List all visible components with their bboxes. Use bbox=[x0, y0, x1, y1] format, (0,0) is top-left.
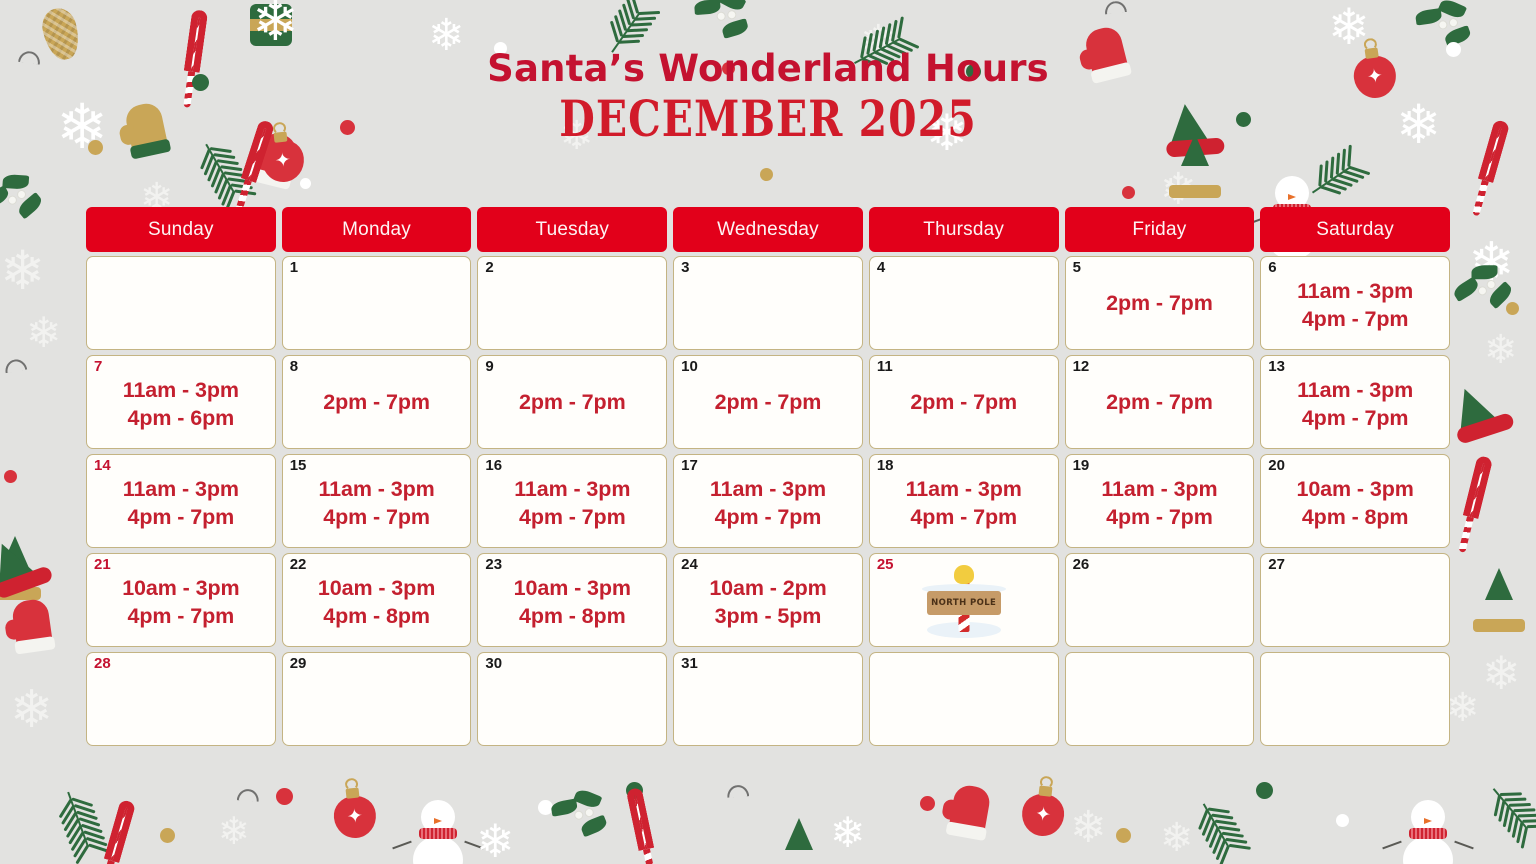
day-number: 12 bbox=[1073, 358, 1090, 376]
hours-block: 11am - 3pm4pm - 7pm bbox=[283, 471, 471, 531]
hours-line: 11am - 3pm bbox=[674, 476, 862, 504]
day-cell-16[interactable]: 1611am - 3pm4pm - 7pm bbox=[477, 454, 667, 548]
day-cell-22[interactable]: 2210am - 3pm4pm - 8pm bbox=[282, 553, 472, 647]
day-cell-6[interactable]: 611am - 3pm4pm - 7pm bbox=[1260, 256, 1450, 350]
hours-line: 11am - 3pm bbox=[283, 476, 471, 504]
hours-block: 2pm - 7pm bbox=[1066, 387, 1254, 417]
hours-block: 11am - 3pm4pm - 7pm bbox=[870, 471, 1058, 531]
calendar-grid: SundayMondayTuesdayWednesdayThursdayFrid… bbox=[86, 207, 1450, 751]
hours-line: 4pm - 7pm bbox=[87, 504, 275, 532]
day-cell-28[interactable]: 28 bbox=[86, 652, 276, 746]
hours-line: 11am - 3pm bbox=[87, 377, 275, 405]
day-cell-27[interactable]: 27 bbox=[1260, 553, 1450, 647]
hours-line: 4pm - 8pm bbox=[1261, 504, 1449, 532]
day-cell-21[interactable]: 2110am - 3pm4pm - 7pm bbox=[86, 553, 276, 647]
weekday-header-sunday: Sunday bbox=[86, 207, 276, 252]
day-number: 4 bbox=[877, 259, 885, 277]
day-number: 31 bbox=[681, 655, 698, 673]
day-number: 3 bbox=[681, 259, 689, 277]
hours-line: 10am - 3pm bbox=[87, 575, 275, 603]
day-cell-11[interactable]: 112pm - 7pm bbox=[869, 355, 1059, 449]
day-number: 29 bbox=[290, 655, 307, 673]
hours-block: 10am - 3pm4pm - 8pm bbox=[283, 570, 471, 630]
north-pole-sign-icon: NORTH POLE bbox=[916, 566, 1012, 640]
weekday-header-monday: Monday bbox=[282, 207, 472, 252]
day-cell-10[interactable]: 102pm - 7pm bbox=[673, 355, 863, 449]
hours-block: 11am - 3pm4pm - 7pm bbox=[1261, 273, 1449, 333]
hours-block: 11am - 3pm4pm - 7pm bbox=[1066, 471, 1254, 531]
hours-line: 10am - 2pm bbox=[674, 575, 862, 603]
day-cell-3[interactable]: 3 bbox=[673, 256, 863, 350]
day-cell-26[interactable]: 26 bbox=[1065, 553, 1255, 647]
title-block: Santa’s Wonderland Hours DECEMBER 2025 bbox=[0, 0, 1536, 138]
week-row: 28293031 bbox=[86, 652, 1450, 746]
hours-line: 4pm - 7pm bbox=[674, 504, 862, 532]
hours-line: 11am - 3pm bbox=[1066, 476, 1254, 504]
day-cell-30[interactable]: 30 bbox=[477, 652, 667, 746]
calendar-page: Santa’s Wonderland Hours DECEMBER 2025 S… bbox=[0, 0, 1536, 864]
day-cell-1[interactable]: 1 bbox=[282, 256, 472, 350]
day-cell-empty bbox=[869, 652, 1059, 746]
hours-line: 11am - 3pm bbox=[1261, 377, 1449, 405]
day-number: 28 bbox=[94, 655, 111, 673]
sign-board: NORTH POLE bbox=[927, 591, 1001, 615]
hours-block: 11am - 3pm4pm - 6pm bbox=[87, 372, 275, 432]
hours-block: 11am - 3pm4pm - 7pm bbox=[674, 471, 862, 531]
hours-line: 3pm - 5pm bbox=[674, 603, 862, 631]
day-number: 10 bbox=[681, 358, 698, 376]
hours-block: 11am - 3pm4pm - 7pm bbox=[1261, 372, 1449, 432]
day-cell-4[interactable]: 4 bbox=[869, 256, 1059, 350]
day-cell-17[interactable]: 1711am - 3pm4pm - 7pm bbox=[673, 454, 863, 548]
hours-block: 10am - 3pm4pm - 8pm bbox=[1261, 471, 1449, 531]
hours-line: 10am - 3pm bbox=[478, 575, 666, 603]
hours-line: 4pm - 7pm bbox=[870, 504, 1058, 532]
day-cell-29[interactable]: 29 bbox=[282, 652, 472, 746]
page-subtitle: DECEMBER 2025 bbox=[0, 91, 1536, 149]
day-cell-25[interactable]: 25NORTH POLE bbox=[869, 553, 1059, 647]
hours-block: 2pm - 7pm bbox=[1066, 288, 1254, 318]
hours-line: 2pm - 7pm bbox=[870, 389, 1058, 417]
hours-block: 10am - 3pm4pm - 7pm bbox=[87, 570, 275, 630]
hours-line: 2pm - 7pm bbox=[1066, 389, 1254, 417]
day-cell-empty bbox=[1065, 652, 1255, 746]
weekday-header-friday: Friday bbox=[1065, 207, 1255, 252]
hours-line: 10am - 3pm bbox=[1261, 476, 1449, 504]
day-cell-23[interactable]: 2310am - 3pm4pm - 8pm bbox=[477, 553, 667, 647]
week-row: 1411am - 3pm4pm - 7pm1511am - 3pm4pm - 7… bbox=[86, 454, 1450, 548]
hours-line: 2pm - 7pm bbox=[674, 389, 862, 417]
hours-line: 2pm - 7pm bbox=[478, 389, 666, 417]
hours-block: 10am - 3pm4pm - 8pm bbox=[478, 570, 666, 630]
weekday-header-saturday: Saturday bbox=[1260, 207, 1450, 252]
hours-line: 4pm - 7pm bbox=[283, 504, 471, 532]
hours-line: 11am - 3pm bbox=[87, 476, 275, 504]
day-number: 9 bbox=[485, 358, 493, 376]
week-row: 123452pm - 7pm611am - 3pm4pm - 7pm bbox=[86, 256, 1450, 350]
day-cell-5[interactable]: 52pm - 7pm bbox=[1065, 256, 1255, 350]
day-number: 1 bbox=[290, 259, 298, 277]
day-cell-20[interactable]: 2010am - 3pm4pm - 8pm bbox=[1260, 454, 1450, 548]
day-cell-12[interactable]: 122pm - 7pm bbox=[1065, 355, 1255, 449]
hours-line: 2pm - 7pm bbox=[283, 389, 471, 417]
hours-block: 2pm - 7pm bbox=[674, 387, 862, 417]
hours-line: 4pm - 7pm bbox=[478, 504, 666, 532]
day-number: 25 bbox=[877, 556, 894, 574]
hours-block: 2pm - 7pm bbox=[478, 387, 666, 417]
week-row: 711am - 3pm4pm - 6pm82pm - 7pm92pm - 7pm… bbox=[86, 355, 1450, 449]
hours-line: 4pm - 6pm bbox=[87, 405, 275, 433]
hours-block: 2pm - 7pm bbox=[283, 387, 471, 417]
day-cell-2[interactable]: 2 bbox=[477, 256, 667, 350]
day-cell-15[interactable]: 1511am - 3pm4pm - 7pm bbox=[282, 454, 472, 548]
hours-line: 4pm - 8pm bbox=[478, 603, 666, 631]
day-cell-8[interactable]: 82pm - 7pm bbox=[282, 355, 472, 449]
hours-line: 10am - 3pm bbox=[283, 575, 471, 603]
day-number: 11 bbox=[877, 358, 893, 376]
day-cell-empty bbox=[1260, 652, 1450, 746]
weeks-container: 123452pm - 7pm611am - 3pm4pm - 7pm711am … bbox=[86, 256, 1450, 746]
day-number: 30 bbox=[485, 655, 502, 673]
sign-text: NORTH POLE bbox=[931, 598, 996, 608]
day-cell-empty bbox=[86, 256, 276, 350]
week-row: 2110am - 3pm4pm - 7pm2210am - 3pm4pm - 8… bbox=[86, 553, 1450, 647]
page-title: Santa’s Wonderland Hours bbox=[0, 50, 1536, 89]
hours-block: 10am - 2pm3pm - 5pm bbox=[674, 570, 862, 630]
hours-block: 2pm - 7pm bbox=[870, 387, 1058, 417]
day-number: 8 bbox=[290, 358, 298, 376]
day-number: 2 bbox=[485, 259, 493, 277]
day-cell-31[interactable]: 31 bbox=[673, 652, 863, 746]
weekday-header-thursday: Thursday bbox=[869, 207, 1059, 252]
weekday-header-wednesday: Wednesday bbox=[673, 207, 863, 252]
hours-line: 4pm - 7pm bbox=[1066, 504, 1254, 532]
hours-line: 4pm - 7pm bbox=[1261, 405, 1449, 433]
hours-line: 4pm - 7pm bbox=[1261, 306, 1449, 334]
hours-line: 2pm - 7pm bbox=[1066, 290, 1254, 318]
day-number: 5 bbox=[1073, 259, 1081, 277]
hours-line: 11am - 3pm bbox=[478, 476, 666, 504]
hours-line: 11am - 3pm bbox=[1261, 278, 1449, 306]
weekday-header-row: SundayMondayTuesdayWednesdayThursdayFrid… bbox=[86, 207, 1450, 252]
day-cell-13[interactable]: 1311am - 3pm4pm - 7pm bbox=[1260, 355, 1450, 449]
weekday-header-tuesday: Tuesday bbox=[477, 207, 667, 252]
hours-block: 11am - 3pm4pm - 7pm bbox=[87, 471, 275, 531]
hours-line: 4pm - 7pm bbox=[87, 603, 275, 631]
gold-ball-top bbox=[954, 565, 974, 584]
day-cell-7[interactable]: 711am - 3pm4pm - 6pm bbox=[86, 355, 276, 449]
day-cell-14[interactable]: 1411am - 3pm4pm - 7pm bbox=[86, 454, 276, 548]
day-cell-9[interactable]: 92pm - 7pm bbox=[477, 355, 667, 449]
day-number: 27 bbox=[1268, 556, 1285, 574]
hours-line: 4pm - 8pm bbox=[283, 603, 471, 631]
day-cell-19[interactable]: 1911am - 3pm4pm - 7pm bbox=[1065, 454, 1255, 548]
day-cell-18[interactable]: 1811am - 3pm4pm - 7pm bbox=[869, 454, 1059, 548]
day-number: 26 bbox=[1073, 556, 1090, 574]
day-cell-24[interactable]: 2410am - 2pm3pm - 5pm bbox=[673, 553, 863, 647]
hours-line: 11am - 3pm bbox=[870, 476, 1058, 504]
hours-block: 11am - 3pm4pm - 7pm bbox=[478, 471, 666, 531]
